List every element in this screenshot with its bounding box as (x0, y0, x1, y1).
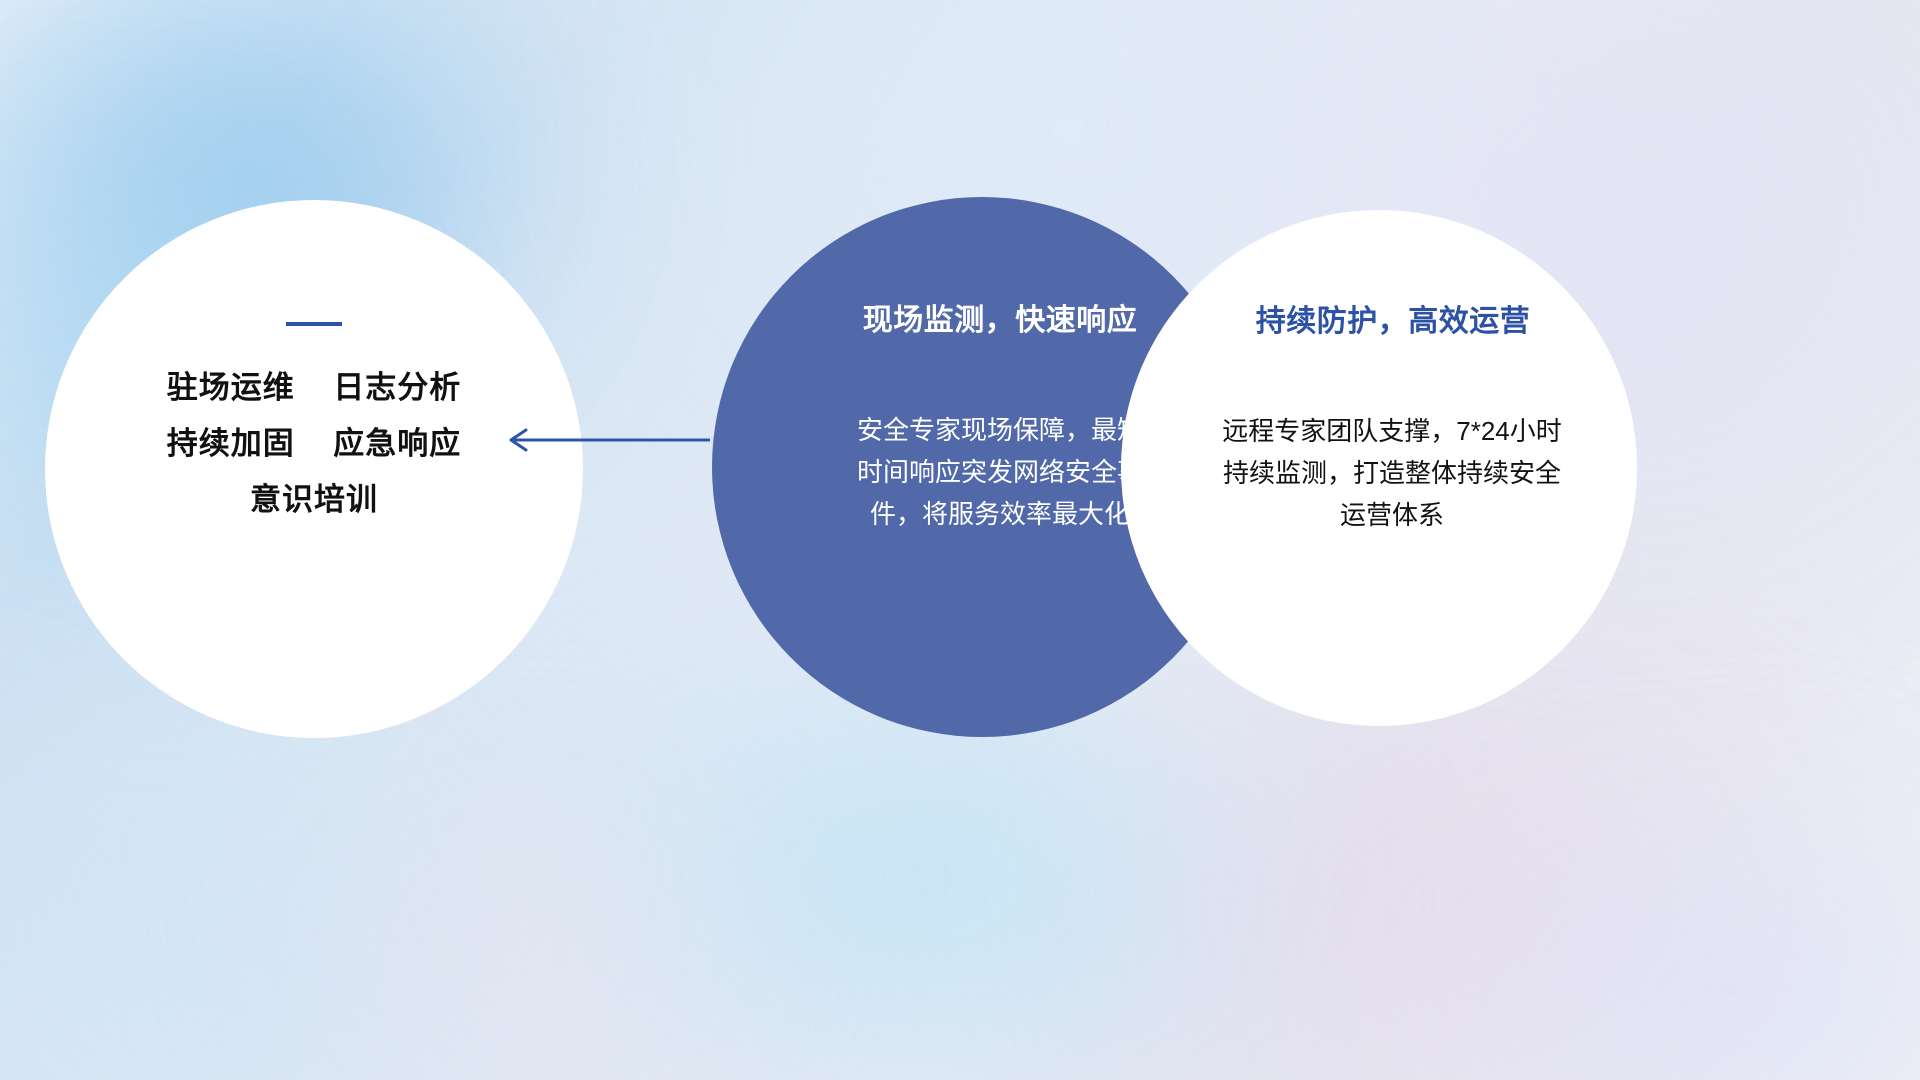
left-divider-dash (286, 322, 342, 326)
middle-circle-body: 安全专家现场保障，最短时间响应突发网络安全事件，将服务效率最大化 (850, 409, 1150, 535)
middle-circle-title: 现场监测，快速响应 (863, 295, 1138, 339)
left-circle-content: 驻场运维 日志分析 持续加固 应急响应 意识培训 (45, 200, 583, 738)
left-service-list: 驻场运维 日志分析 持续加固 应急响应 意识培训 (167, 364, 461, 524)
slide-canvas: 驻场运维 日志分析 持续加固 应急响应 意识培训 现场监测，快速响应 安全专家现… (0, 0, 1920, 1080)
right-circle-body: 远程专家团队支撑，7*24小时持续监测，打造整体持续安全运营体系 (1222, 410, 1562, 536)
left-service-line-3: 意识培训 (250, 476, 378, 524)
left-service-line-1: 驻场运维 日志分析 (167, 364, 461, 412)
right-circle-title: 持续防护，高效运营 (1256, 296, 1531, 340)
left-service-line-2: 持续加固 应急响应 (167, 420, 461, 468)
right-circle-content: 持续防护，高效运营 远程专家团队支撑，7*24小时持续监测，打造整体持续安全运营… (1121, 210, 1637, 726)
